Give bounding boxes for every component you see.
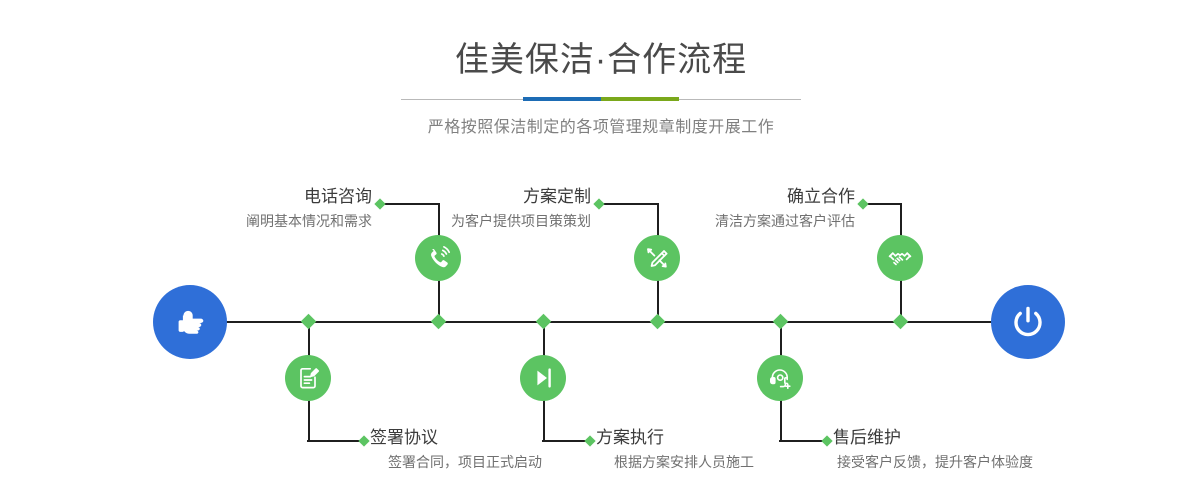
step-connector-horizontal [382, 203, 439, 205]
pencil-ruler-icon [643, 244, 671, 272]
step-desc: 签署合同，项目正式启动 [370, 451, 600, 473]
divider-segment-green [601, 97, 679, 101]
step-desc: 阐明基本情况和需求 [150, 210, 372, 232]
step-desc: 根据方案安排人员施工 [596, 451, 826, 473]
step-title: 签署协议 [370, 427, 600, 449]
handshake-icon [886, 244, 914, 272]
axis-diamond [536, 314, 552, 330]
step-label-phone-consult: 电话咨询 阐明基本情况和需求 [150, 186, 372, 232]
pointing-hand-icon [170, 302, 210, 342]
page-title: 佳美保洁·合作流程 [0, 0, 1202, 82]
step-title: 电话咨询 [150, 186, 372, 208]
step-node-plan-customize[interactable] [634, 235, 680, 281]
step-connector-horizontal [601, 203, 658, 205]
label-diamond [857, 198, 868, 209]
step-node-after-sales[interactable] [757, 355, 803, 401]
step-label-plan-customize: 方案定制 为客户提供项目策策划 [380, 186, 591, 232]
step-node-establish-cooperation[interactable] [877, 235, 923, 281]
label-diamond [593, 198, 604, 209]
header: 佳美保洁·合作流程 严格按照保洁制定的各项管理规章制度开展工作 [0, 0, 1202, 140]
step-label-sign-agreement: 签署协议 签署合同，项目正式启动 [370, 427, 600, 473]
axis-diamond [893, 314, 909, 330]
axis-diamond [301, 314, 317, 330]
play-execute-icon [529, 364, 557, 392]
step-label-plan-execute: 方案执行 根据方案安排人员施工 [596, 427, 826, 473]
step-connector-horizontal [542, 440, 590, 442]
phone-call-icon [424, 244, 452, 272]
step-title: 确立合作 [660, 186, 855, 208]
divider-segment-blue [523, 97, 601, 101]
step-node-plan-execute[interactable] [520, 355, 566, 401]
cooperation-flow-infographic: 佳美保洁·合作流程 严格按照保洁制定的各项管理规章制度开展工作 [0, 0, 1202, 502]
step-connector-horizontal [865, 203, 901, 205]
step-title: 售后维护 [833, 427, 1083, 449]
step-desc: 接受客户反馈，提升客户体验度 [833, 451, 1083, 473]
page-subtitle: 严格按照保洁制定的各项管理规章制度开展工作 [0, 108, 1202, 140]
step-node-sign-agreement[interactable] [285, 355, 331, 401]
step-label-establish-cooperation: 确立合作 清洁方案通过客户评估 [660, 186, 855, 232]
step-title: 方案执行 [596, 427, 826, 449]
power-icon [1007, 301, 1049, 343]
label-diamond [358, 435, 369, 446]
step-desc: 为客户提供项目策策划 [380, 210, 591, 232]
timeline-start-endpoint [153, 285, 227, 359]
title-divider [401, 92, 801, 108]
step-label-after-sales: 售后维护 接受客户反馈，提升客户体验度 [833, 427, 1083, 473]
step-connector-horizontal [307, 440, 364, 442]
headset-support-icon [766, 364, 794, 392]
timeline-end-endpoint [991, 285, 1065, 359]
axis-diamond [431, 314, 447, 330]
step-node-phone-consult[interactable] [415, 235, 461, 281]
axis-diamond [773, 314, 789, 330]
document-edit-icon [294, 364, 322, 392]
axis-diamond [650, 314, 666, 330]
step-desc: 清洁方案通过客户评估 [660, 210, 855, 232]
step-connector-horizontal [779, 440, 827, 442]
